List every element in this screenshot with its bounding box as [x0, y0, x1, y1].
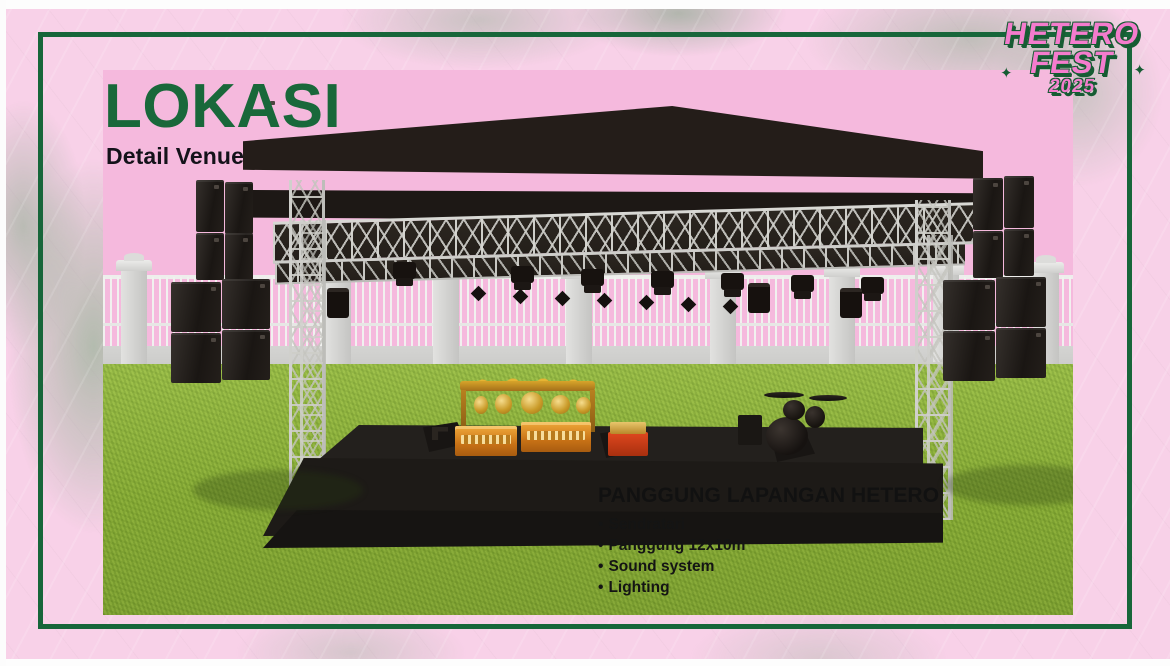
- moving-head-light: [651, 271, 674, 288]
- gamelan-saron-right: [521, 422, 591, 452]
- speaker-subwoofer: [171, 333, 221, 383]
- gamelan-red-stand: [608, 432, 648, 456]
- venue-feature-label: Lighting: [608, 579, 669, 596]
- moving-head-light: [861, 277, 884, 294]
- page-title: LOKASI: [104, 78, 341, 137]
- venue-feature-item: •Sound system: [598, 557, 939, 578]
- gamelan-gong: [551, 395, 570, 414]
- speaker-line-array: [1004, 229, 1034, 276]
- gamelan-gong: [495, 394, 512, 414]
- speaker-subwoofer: [222, 330, 270, 380]
- logo-line-year: 2025: [990, 76, 1153, 98]
- side-fixture-light: [327, 288, 349, 318]
- speaker-subwoofer: [996, 328, 1046, 378]
- gamelan-gong: [521, 392, 543, 414]
- page-title-block: LOKASI Detail Venue: [104, 78, 341, 170]
- gamelan-gong: [576, 397, 591, 414]
- slide-root: LOKASI Detail Venue ✦ HETERO FEST ✦ ✦ 20…: [0, 0, 1170, 666]
- gamelan-gong-rack: [460, 381, 595, 391]
- drum-cymbal: [809, 395, 847, 401]
- moving-head-light: [581, 269, 604, 286]
- speaker-line-array: [196, 180, 224, 232]
- venue-feature-label: Sendratari: [608, 516, 685, 533]
- speaker-subwoofer: [943, 331, 995, 381]
- drum-tom: [805, 406, 825, 428]
- venue-caption-block: PANGGUNG LAPANGAN HETERO •Sendratari•Pan…: [598, 484, 939, 599]
- bullet-icon: •: [598, 516, 603, 533]
- venue-feature-item: •Panggung 12x10m: [598, 536, 939, 557]
- moving-head-light: [393, 262, 416, 279]
- speaker-line-array: [1004, 176, 1034, 228]
- speaker-subwoofer: [171, 282, 221, 332]
- moving-head-light: [511, 266, 534, 283]
- stage-amplifier: [738, 415, 762, 445]
- bullet-icon: •: [598, 579, 603, 596]
- background-left-edge: [0, 0, 6, 666]
- drum-tom: [783, 400, 805, 420]
- venue-feature-item: •Sendratari: [598, 515, 939, 536]
- moving-head-light: [721, 273, 744, 290]
- speaker-line-array: [225, 233, 253, 280]
- speaker-line-array: [196, 233, 224, 280]
- venue-feature-list: •Sendratari•Panggung 12x10m•Sound system…: [598, 515, 939, 599]
- gamelan-gong: [474, 396, 488, 414]
- bullet-icon: •: [598, 558, 603, 575]
- bullet-icon: •: [598, 537, 603, 554]
- side-fixture-light: [840, 288, 862, 318]
- speaker-subwoofer: [996, 277, 1046, 327]
- venue-caption-title: PANGGUNG LAPANGAN HETERO: [598, 484, 939, 508]
- gamelan-saron-left: [455, 426, 517, 456]
- venue-feature-label: Panggung 12x10m: [608, 537, 745, 554]
- hetero-fest-logo: ✦ HETERO FEST ✦ ✦ 2025: [992, 16, 1152, 118]
- speaker-line-array: [973, 178, 1003, 230]
- venue-feature-item: •Lighting: [598, 578, 939, 599]
- drum-kick: [766, 417, 808, 455]
- page-subtitle: Detail Venue: [106, 143, 341, 170]
- speaker-line-array: [973, 231, 1003, 278]
- background-top-edge: [0, 0, 1170, 9]
- speaker-shadow-left: [193, 470, 363, 510]
- speaker-line-array: [225, 182, 253, 234]
- side-fixture-light: [748, 283, 770, 313]
- moving-head-light: [791, 275, 814, 292]
- speaker-subwoofer: [222, 279, 270, 329]
- drum-cymbal: [764, 392, 804, 398]
- speaker-subwoofer: [943, 280, 995, 330]
- venue-feature-label: Sound system: [608, 558, 714, 575]
- background-bottom-edge: [0, 659, 1170, 666]
